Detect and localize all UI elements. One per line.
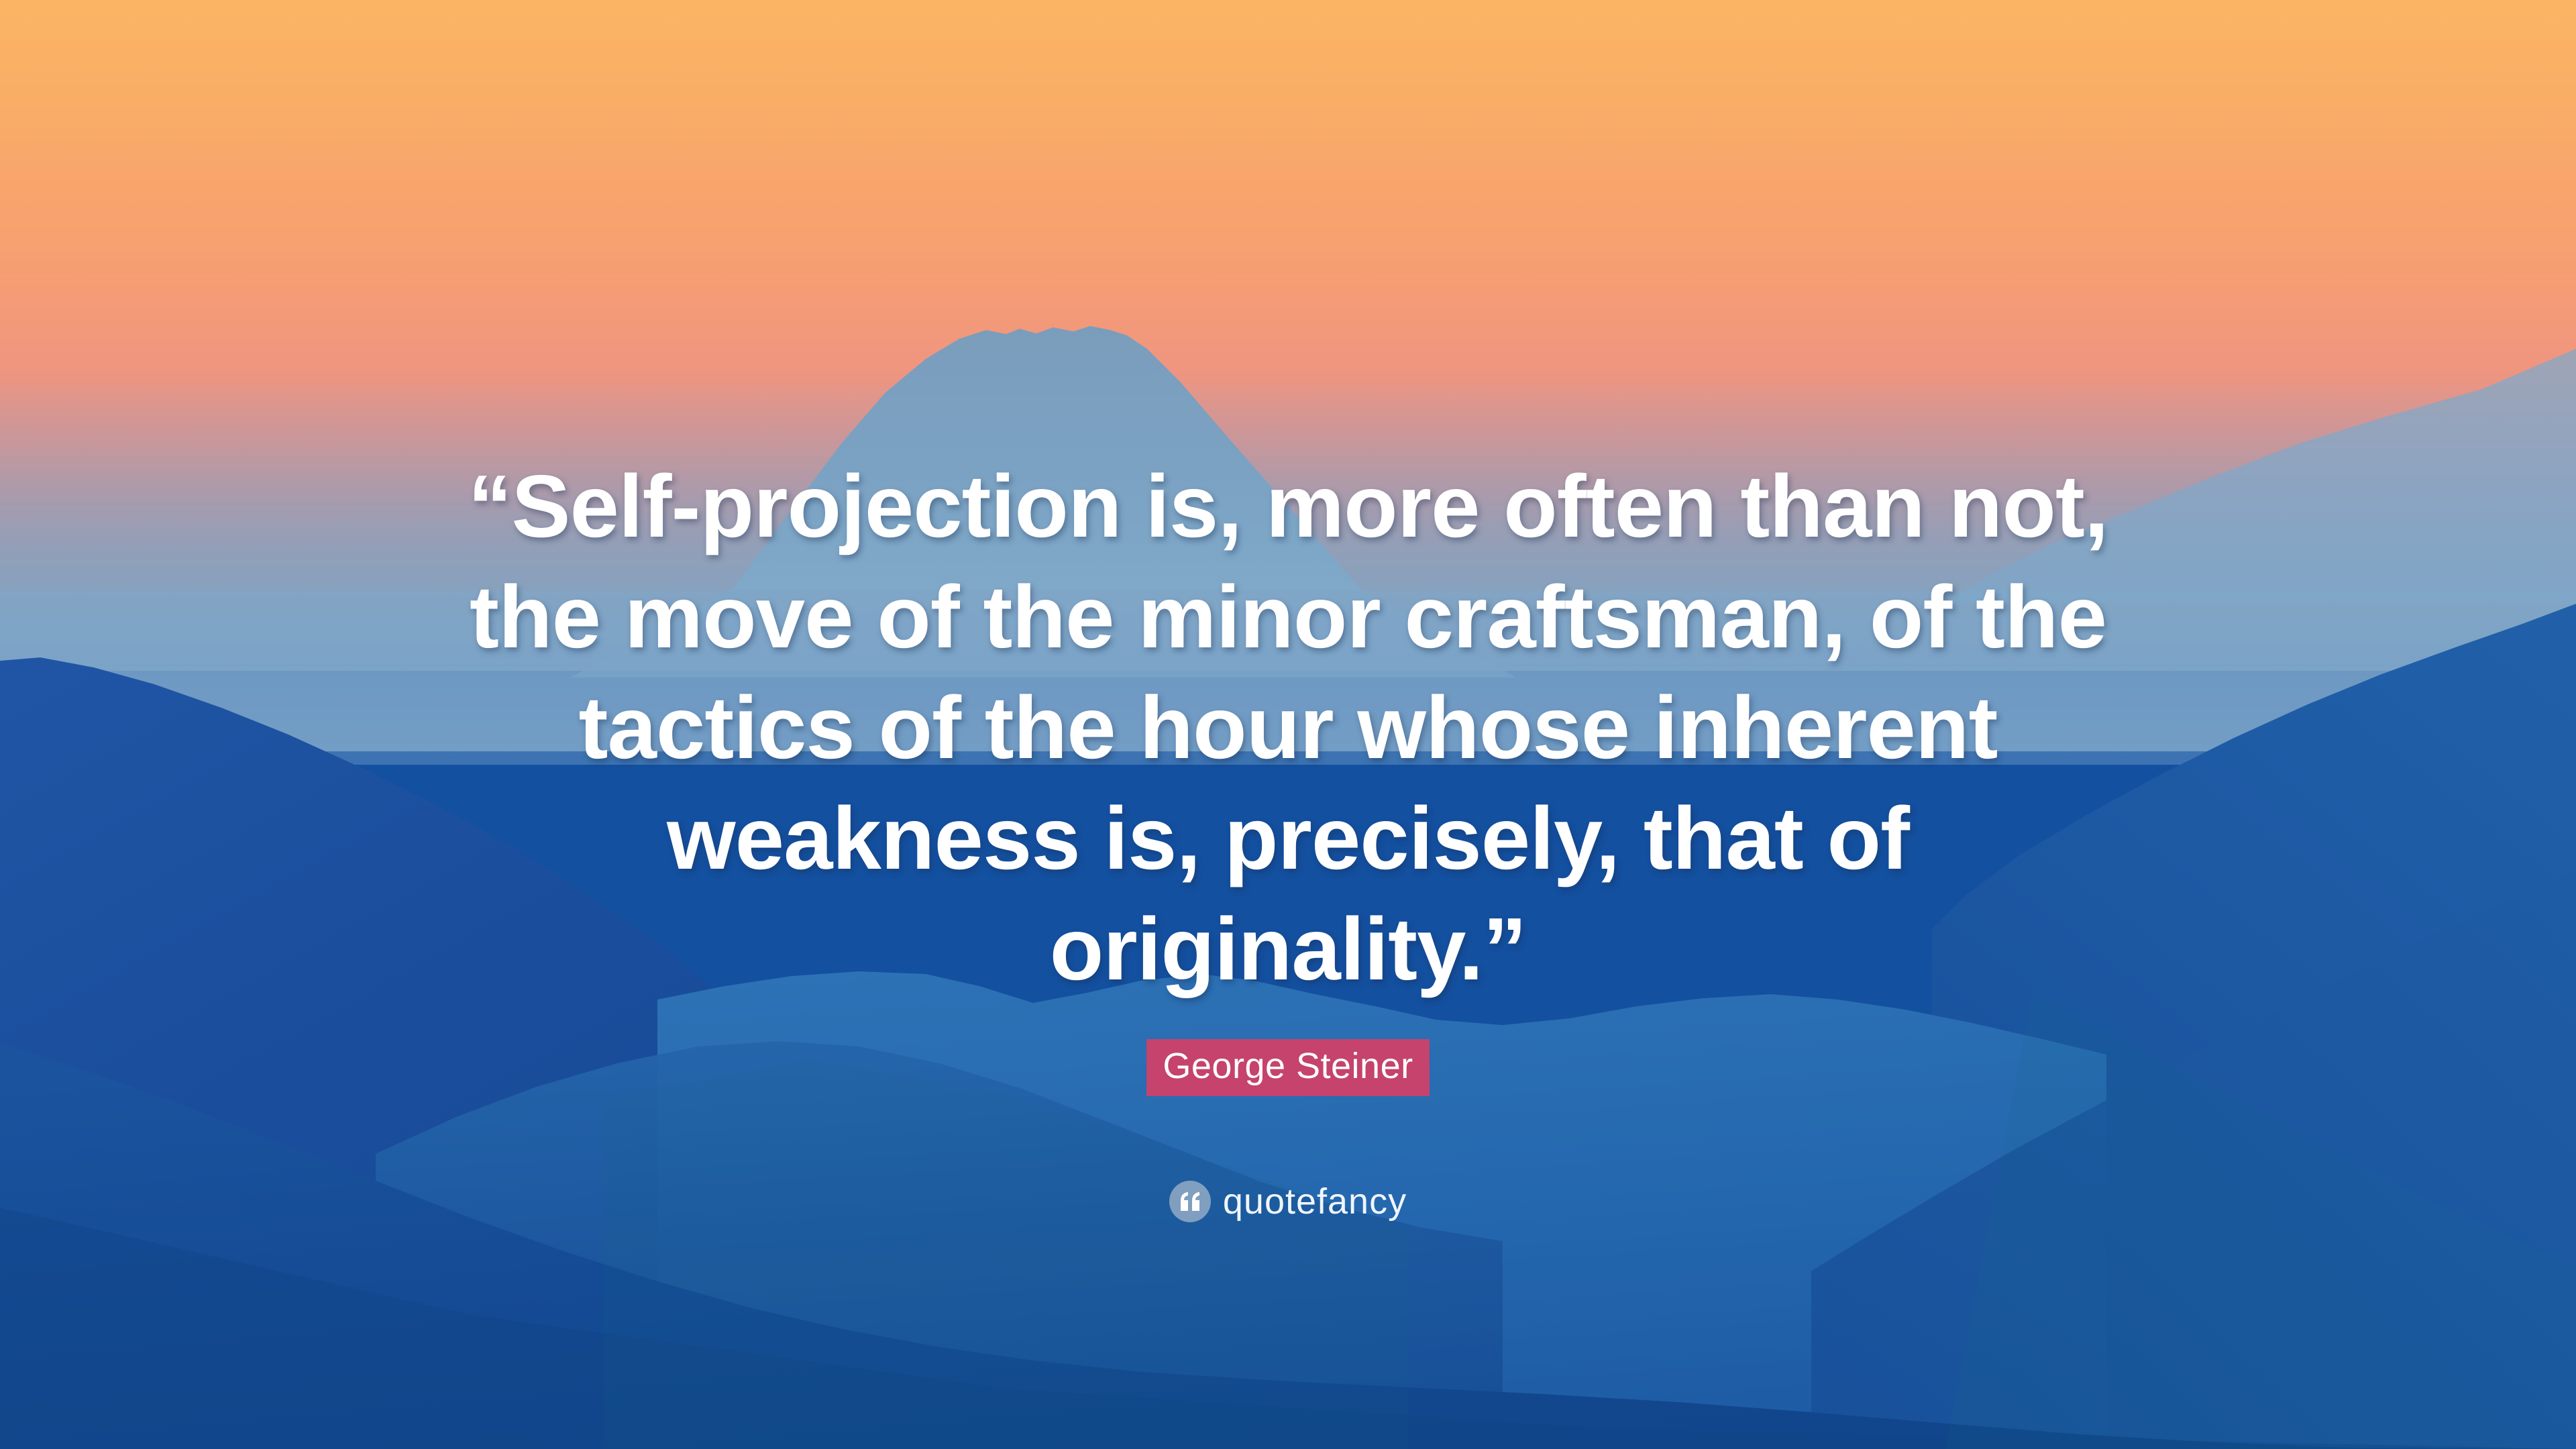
quote-poster: “Self-projection is, more often than not… (0, 0, 2576, 1449)
quote-line: weakness is, precisely, that of original… (667, 789, 1909, 998)
quote-line: tactics of the hour whose inherent (579, 678, 1998, 777)
poster-content: “Self-projection is, more often than not… (0, 0, 2576, 1449)
quote-mark-icon (1169, 1181, 1211, 1222)
quotefancy-brand-text: quotefancy (1223, 1183, 1407, 1220)
author-badge-wrap: George Steiner (1146, 1039, 1429, 1096)
quotefancy-watermark[interactable]: quotefancy (0, 1181, 2576, 1222)
quote-line: the move of the minor craftsman, of the (470, 568, 2106, 666)
quote-text: “Self-projection is, more often than not… (449, 451, 2127, 1004)
quote-line: “Self-projection is, more often than not… (468, 457, 2108, 555)
author-badge: George Steiner (1146, 1039, 1429, 1096)
